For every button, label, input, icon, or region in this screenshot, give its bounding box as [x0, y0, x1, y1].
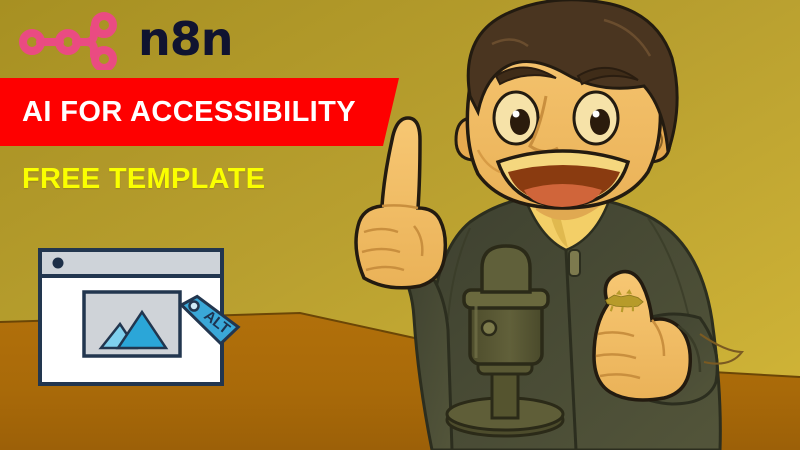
- headline-banner: AI FOR ACCESSIBILITY: [0, 78, 400, 146]
- browser-titlebar: [40, 250, 222, 276]
- brand-lockup: n8n: [18, 8, 233, 70]
- n8n-node-graph-icon: [18, 8, 128, 70]
- thumbnail-canvas: ALT n8n AI FOR ACCESSIBILITY FREE TEMPLA…: [0, 0, 800, 450]
- alt-tag[interactable]: ALT: [180, 292, 242, 348]
- window-dot-icon: [53, 258, 64, 269]
- headline-text: AI FOR ACCESSIBILITY: [22, 96, 356, 129]
- brand-wordmark: n8n: [138, 16, 233, 62]
- subheadline-text: FREE TEMPLATE: [22, 163, 265, 196]
- image-placeholder-icon: [84, 292, 180, 356]
- price-tag-icon: ALT: [181, 295, 239, 345]
